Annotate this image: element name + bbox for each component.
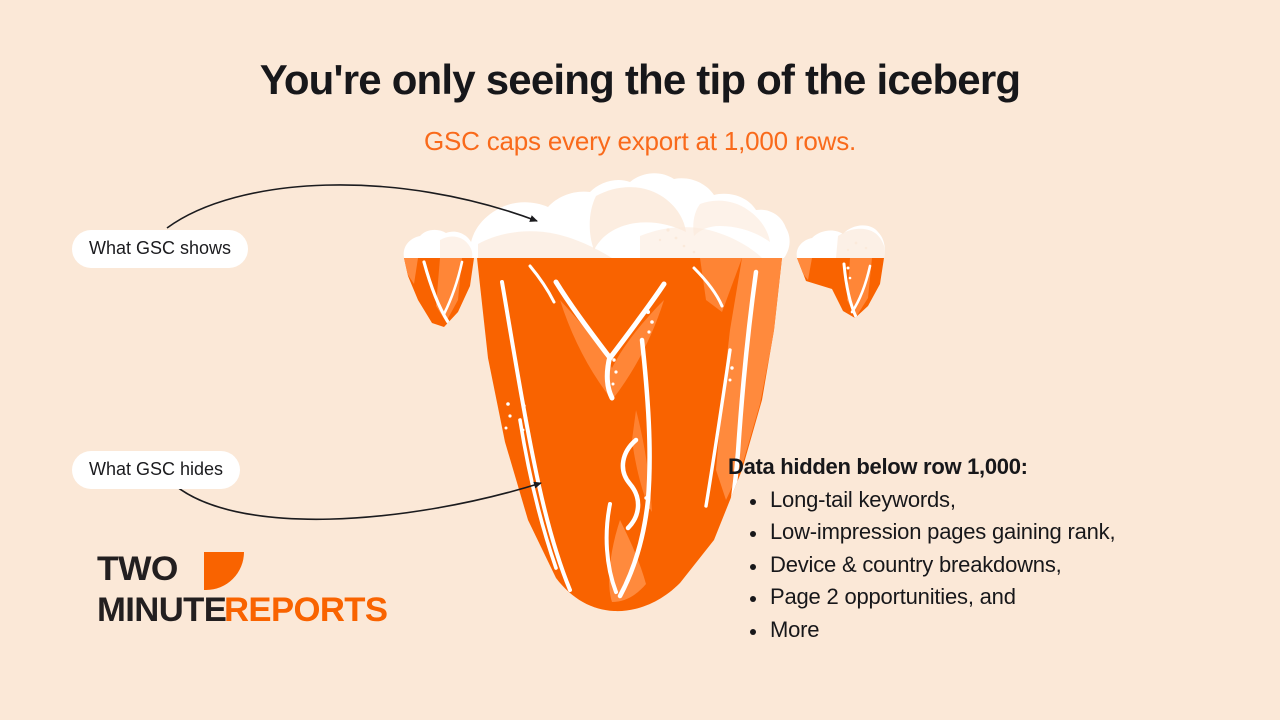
logo-word-reports: REPORTS [224, 591, 387, 629]
list-item: Long-tail keywords, [728, 484, 1248, 517]
logo-word-two: TWO [97, 550, 178, 588]
infographic-canvas: You're only seeing the tip of the iceber… [0, 0, 1280, 720]
brand-logo: TWO MINUTE REPORTS [97, 550, 327, 630]
list-item: Page 2 opportunities, and [728, 581, 1248, 614]
logo-wedge-icon [204, 552, 244, 590]
page-title: You're only seeing the tip of the iceber… [0, 56, 1280, 104]
list-item: Low-impression pages gaining rank, [728, 516, 1248, 549]
list-item: More [728, 614, 1248, 647]
logo-row-bottom: MINUTE REPORTS [97, 591, 327, 629]
logo-row-top: TWO [97, 550, 327, 590]
list-item: Device & country breakdowns, [728, 549, 1248, 582]
hidden-data-block: Data hidden below row 1,000: Long-tail k… [728, 452, 1248, 646]
page-subtitle: GSC caps every export at 1,000 rows. [0, 126, 1280, 157]
logo-word-minute: MINUTE [97, 591, 226, 629]
hidden-data-list: Long-tail keywords,Low-impression pages … [728, 484, 1248, 647]
hidden-data-heading: Data hidden below row 1,000: [728, 452, 1248, 482]
callout-what-gsc-hides: What GSC hides [72, 451, 240, 489]
callout-what-gsc-shows: What GSC shows [72, 230, 248, 268]
arrow-shows [167, 185, 537, 228]
